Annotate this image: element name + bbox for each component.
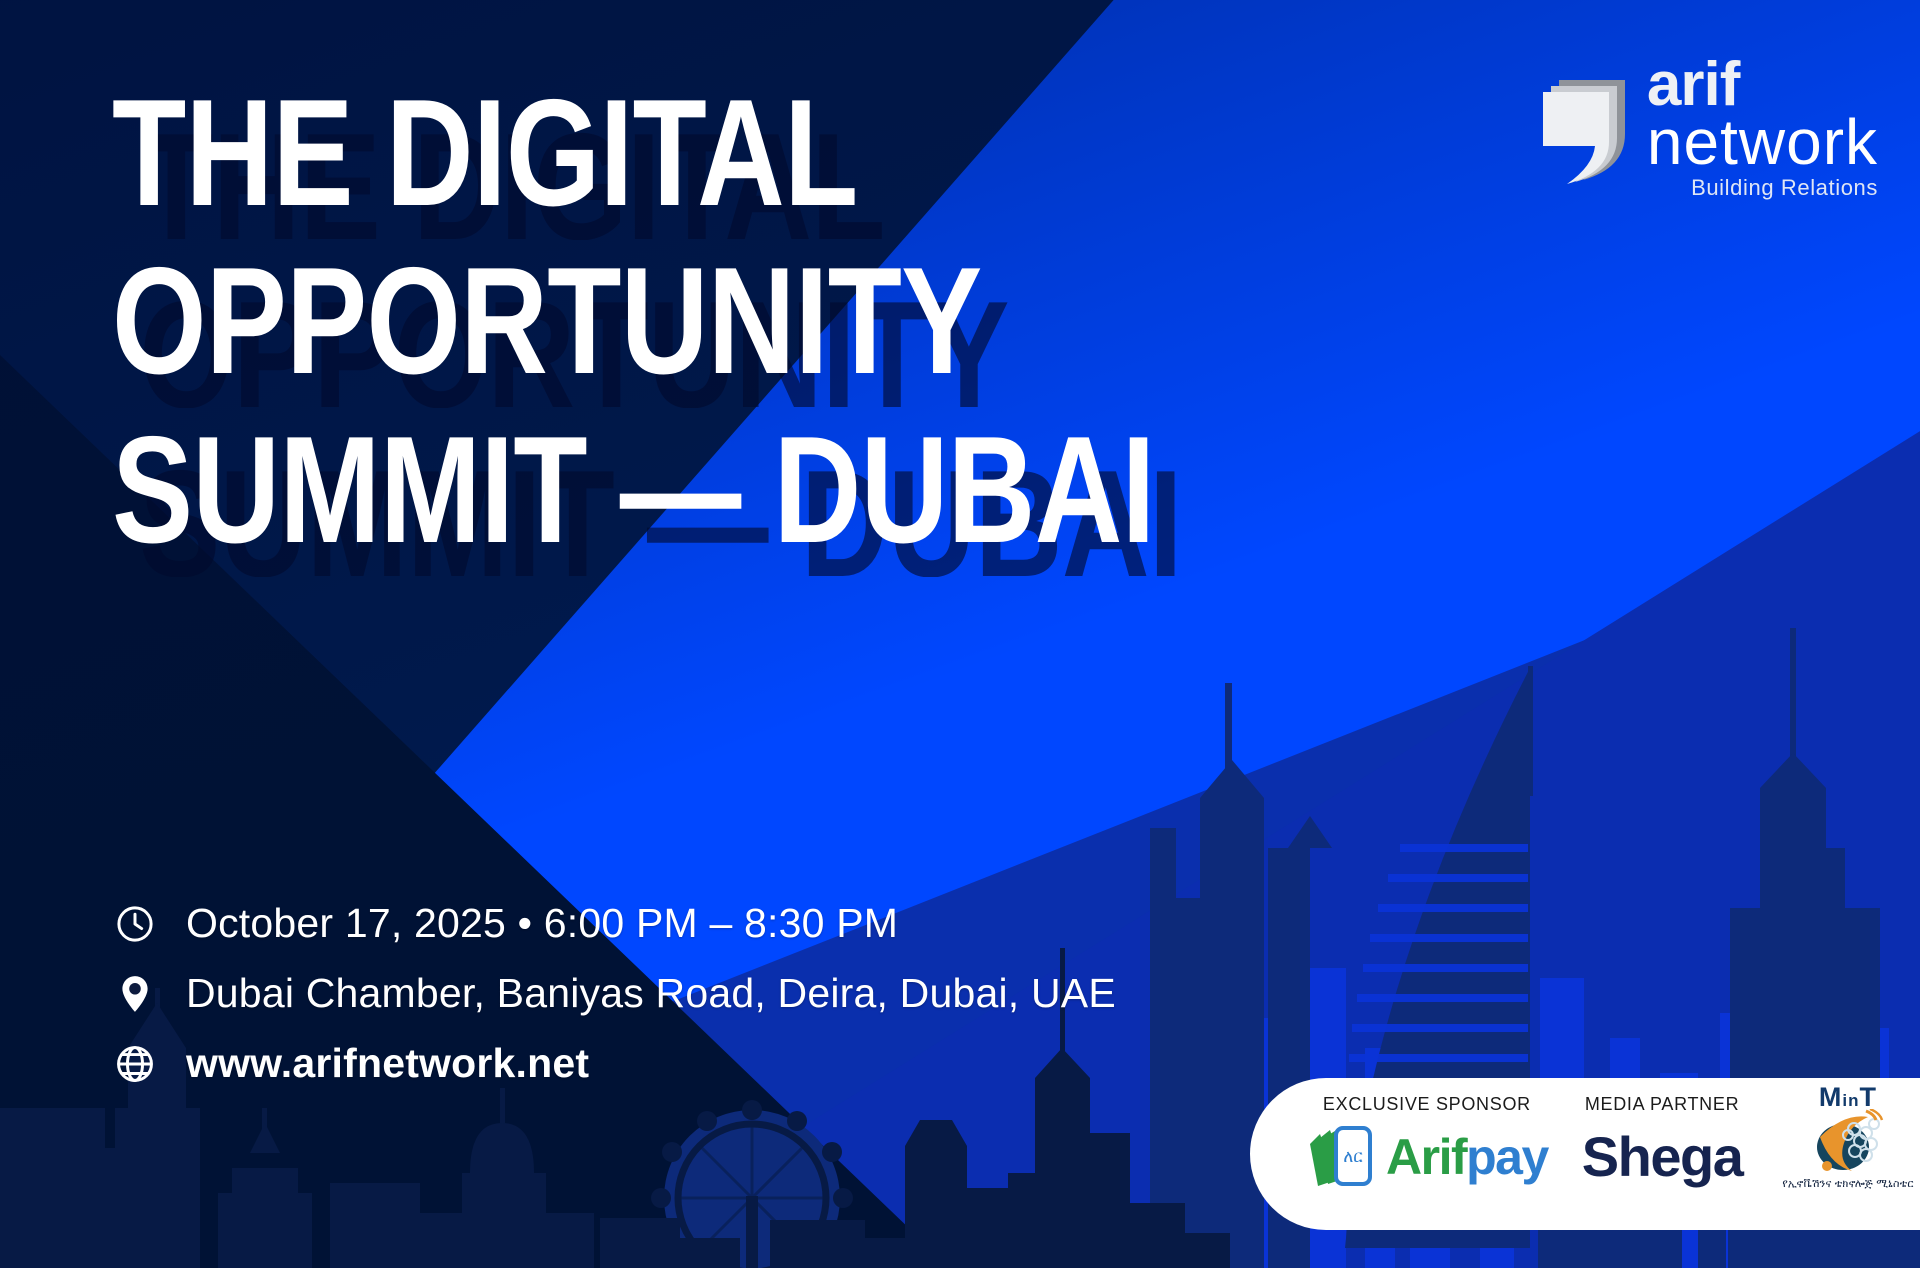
detail-text-location: Dubai Chamber, Baniyas Road, Deira, Duba… <box>186 970 1116 1017</box>
location-pin-icon <box>112 971 158 1017</box>
arifpay-word-pay: pay <box>1466 1129 1548 1185</box>
event-details: October 17, 2025 • 6:00 PM – 8:30 PM Dub… <box>112 900 1116 1087</box>
arif-network-wordmark: arif network Building Relations <box>1647 58 1878 201</box>
sponsor-exclusive: EXCLUSIVE SPONSOR ለር Arifpay <box>1306 1094 1548 1195</box>
arifpay-cards-icon: ለር <box>1306 1122 1380 1192</box>
shega-logo: Shega <box>1582 1119 1743 1195</box>
mint-globe-icon <box>1810 1109 1886 1177</box>
arif-tagline: Building Relations <box>1691 175 1878 201</box>
mint-logo: MinT የኢኖቬሽንና ቴክኖሎጅ ሚኒስቴር <box>1782 1084 1913 1191</box>
detail-text-website[interactable]: www.arifnetwork.net <box>186 1040 589 1087</box>
page-title: THE DIGITAL OPPORTUNITY SUMMIT — DUBAI <box>112 78 1415 565</box>
arif-comma-mark-icon <box>1537 76 1633 184</box>
event-banner: THE DIGITAL OPPORTUNITY SUMMIT — DUBAI O… <box>0 0 1920 1268</box>
clock-icon <box>112 901 158 947</box>
mint-amharic-text: የኢኖቬሽንና ቴክኖሎጅ ሚኒስቴር <box>1782 1178 1913 1191</box>
svg-text:ለር: ለር <box>1343 1147 1363 1167</box>
mint-letters-in: in <box>1842 1091 1859 1110</box>
sponsor-bar: EXCLUSIVE SPONSOR ለር Arifpay <box>1250 1078 1920 1230</box>
mint-letter-t: T <box>1860 1082 1878 1112</box>
arif-word: arif <box>1647 58 1739 111</box>
headline-line-2: OPPORTUNITY <box>112 246 1155 396</box>
sponsor-kicker-media: MEDIA PARTNER <box>1585 1094 1739 1115</box>
headline-line-3: SUMMIT — DUBAI <box>112 415 1155 565</box>
globe-icon <box>112 1041 158 1087</box>
detail-row-datetime: October 17, 2025 • 6:00 PM – 8:30 PM <box>112 900 1116 947</box>
sponsor-media-partner: MEDIA PARTNER Shega <box>1582 1094 1743 1195</box>
detail-row-location: Dubai Chamber, Baniyas Road, Deira, Duba… <box>112 970 1116 1017</box>
arifpay-wordmark: Arifpay <box>1386 1132 1548 1182</box>
arif-network-logo: arif network Building Relations <box>1537 58 1878 201</box>
sponsor-kicker-exclusive: EXCLUSIVE SPONSOR <box>1323 1094 1531 1115</box>
mint-wordmark: MinT <box>1819 1084 1877 1111</box>
detail-text-datetime: October 17, 2025 • 6:00 PM – 8:30 PM <box>186 900 898 947</box>
mint-letter-m: M <box>1819 1082 1843 1112</box>
network-word: network <box>1647 113 1878 172</box>
headline-line-1: THE DIGITAL <box>112 78 1155 228</box>
detail-row-website[interactable]: www.arifnetwork.net <box>112 1040 1116 1087</box>
arifpay-logo: ለር Arifpay <box>1306 1119 1548 1195</box>
arifpay-word-arif: Arif <box>1386 1129 1466 1185</box>
